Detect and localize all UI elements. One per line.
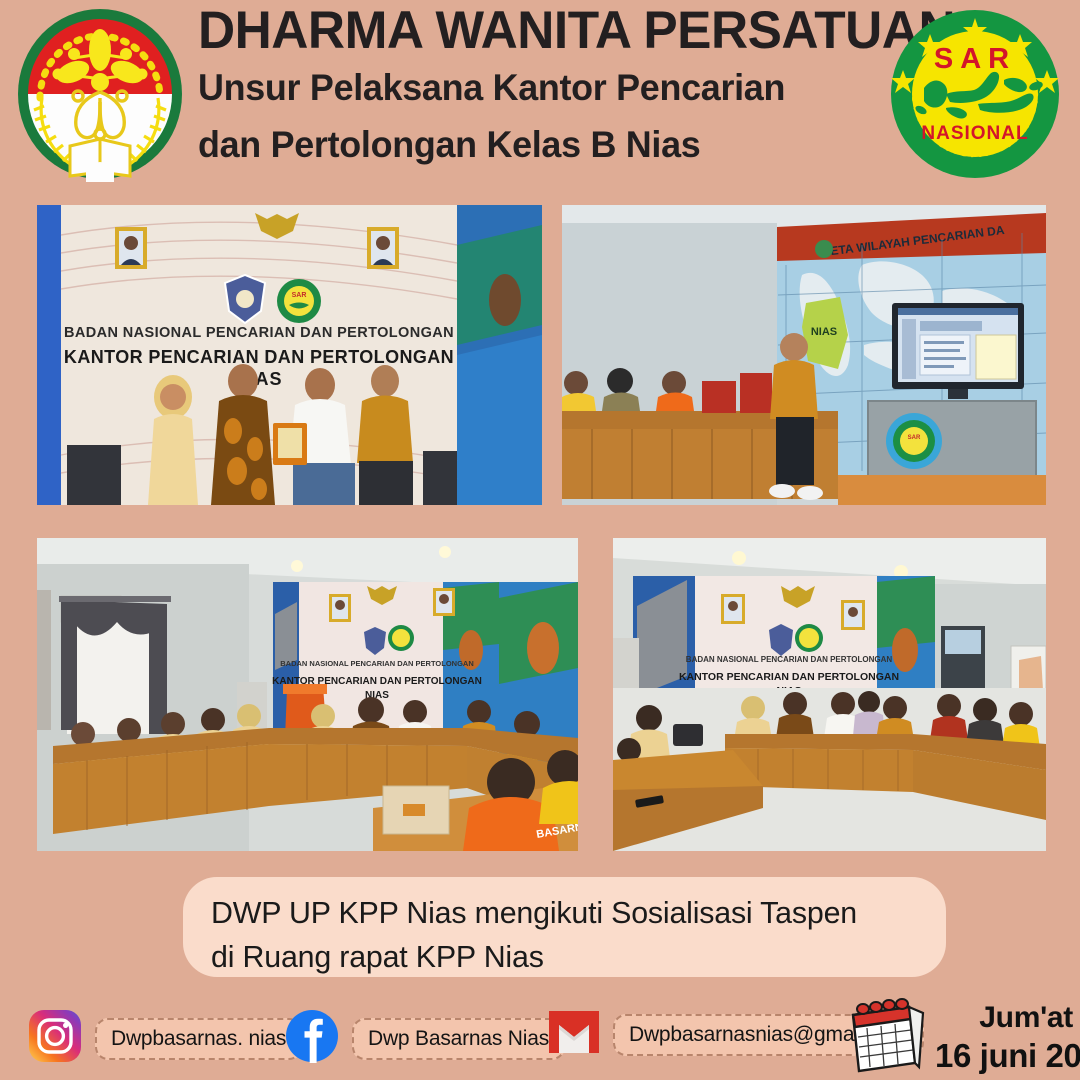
caption-line-2: di Ruang rapat KPP Nias (211, 935, 904, 979)
date-weekday: Jum'at (935, 1003, 1080, 1033)
photo-plaque-handover[interactable]: SAR BADAN NASIONAL PENCARIAN DAN PERTOLO… (37, 205, 542, 505)
basarnas-sar-nasional-logo: AVIGNAM JAGAT SAMAGRAM SAR NASIONAL (886, 8, 1064, 180)
photo-meeting-room-front[interactable]: BADAN NASIONAL PENCARIAN DAN PERTOLONGAN… (613, 538, 1046, 851)
footer-contact-bar: Dwpbasarnas. nias Dwp Basarnas Nias Dwpb… (0, 995, 1080, 1080)
svg-text:SAR: SAR (292, 292, 307, 299)
page-title: DHARMA WANITA PERSATUAN (198, 4, 867, 58)
page-subtitle-line-1: Unsur Pelaksana Kantor Pencarian (198, 62, 867, 115)
facebook-icon[interactable] (285, 1009, 339, 1068)
svg-text:NASIONAL: NASIONAL (921, 123, 1028, 144)
footer-instagram-item[interactable]: Dwpbasarnas. nias (28, 1009, 302, 1068)
caption-line-1: DWP UP KPP Nias mengikuti Sosialisasi Ta… (211, 891, 904, 935)
date-full: 16 juni 2023 (935, 1039, 1080, 1072)
svg-text:KANTOR PENCARIAN DAN PERTOLONG: KANTOR PENCARIAN DAN PERTOLONGAN (64, 347, 454, 367)
photo-meeting-room-wide[interactable]: BADAN NASIONAL PENCARIAN DAN PERTOLONGAN… (37, 538, 578, 851)
svg-text:BADAN NASIONAL PENCARIAN DAN P: BADAN NASIONAL PENCARIAN DAN PERTOLONGAN (686, 655, 893, 664)
svg-text:SAR: SAR (908, 435, 921, 441)
instagram-handle[interactable]: Dwpbasarnas. nias (95, 1018, 302, 1060)
footer-date-item: Jum'at 16 juni 2023 (845, 997, 1080, 1078)
dharma-wanita-persatuan-logo (14, 6, 186, 182)
svg-text:BADAN NASIONAL PENCARIAN DAN P: BADAN NASIONAL PENCARIAN DAN PERTOLONGAN (64, 325, 454, 341)
instagram-icon[interactable] (28, 1009, 82, 1068)
caption-box: DWP UP KPP Nias mengikuti Sosialisasi Ta… (183, 877, 946, 977)
header-title-block: DHARMA WANITA PERSATUAN Unsur Pelaksana … (198, 4, 888, 171)
header-banner: DHARMA WANITA PERSATUAN Unsur Pelaksana … (0, 0, 1080, 190)
footer-facebook-item[interactable]: Dwp Basarnas Nias (285, 1009, 565, 1068)
svg-text:NIAS: NIAS (811, 326, 837, 338)
svg-text:KANTOR PENCARIAN DAN PERTOLONG: KANTOR PENCARIAN DAN PERTOLONGAN (679, 671, 899, 683)
footer-date-text: Jum'at 16 juni 2023 (935, 1003, 1080, 1072)
svg-text:BADAN NASIONAL PENCARIAN DAN P: BADAN NASIONAL PENCARIAN DAN PERTOLONGAN (280, 659, 473, 668)
calendar-icon (845, 997, 927, 1078)
svg-text:SAR: SAR (934, 43, 1016, 75)
page-subtitle-line-2: dan Pertolongan Kelas B Nias (198, 119, 867, 172)
gmail-icon[interactable] (548, 1009, 600, 1060)
photo-presenter-map[interactable]: PETA WILAYAH PENCARIAN DA NIAS (562, 205, 1046, 505)
facebook-handle[interactable]: Dwp Basarnas Nias (352, 1018, 565, 1060)
